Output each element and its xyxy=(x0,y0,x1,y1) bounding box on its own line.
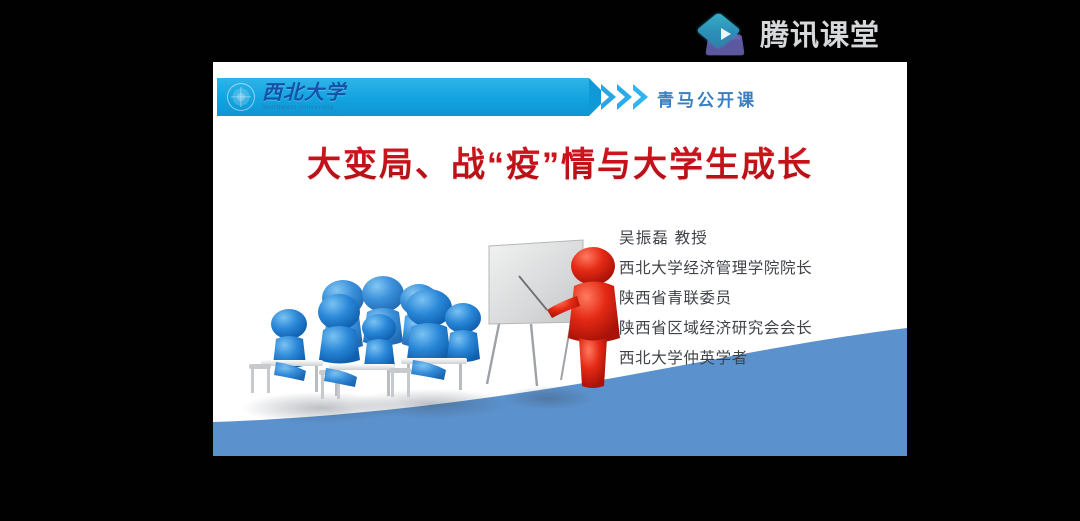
slide-title: 大变局、战“疫”情与大学生成长 xyxy=(213,137,907,186)
tencent-classroom-play-diamond-icon xyxy=(700,13,750,59)
university-name-cn: 西北大学 xyxy=(262,83,346,103)
speaker-line: 西北大学仲英学者 xyxy=(619,344,889,374)
chevron-right-icon xyxy=(633,84,648,110)
university-seal-icon xyxy=(227,83,255,111)
speaker-line: 陕西省区域经济研究会会长 xyxy=(619,314,889,344)
speaker-credentials: 吴振磊 教授 西北大学经济管理学院院长 陕西省青联委员 陕西省区域经济研究会会长… xyxy=(619,224,889,374)
play-triangle-icon xyxy=(721,28,731,40)
university-name-block: 西北大学 Northwest University xyxy=(262,83,346,112)
speaker-line: 陕西省青联委员 xyxy=(619,284,889,314)
course-series-label: 青马公开课 xyxy=(657,86,757,111)
speaker-line: 吴振磊 教授 xyxy=(619,224,889,254)
watermark-brand-label: 腾讯课堂 xyxy=(760,22,880,51)
video-player-frame: 腾讯课堂 西北大学 Northwest University 青马公开课 大变局… xyxy=(0,0,1080,521)
speaker-line: 西北大学经济管理学院院长 xyxy=(619,254,889,284)
university-banner: 西北大学 Northwest University xyxy=(217,78,589,116)
classroom-lecture-illustration xyxy=(231,212,631,442)
university-name-en: Northwest University xyxy=(262,105,346,112)
tencent-classroom-watermark: 腾讯课堂 xyxy=(700,10,910,62)
chevron-right-icon xyxy=(601,84,616,110)
chevron-right-icon xyxy=(617,84,632,110)
chevron-group xyxy=(601,84,648,110)
presentation-slide: 西北大学 Northwest University 青马公开课 大变局、战“疫”… xyxy=(213,62,907,456)
